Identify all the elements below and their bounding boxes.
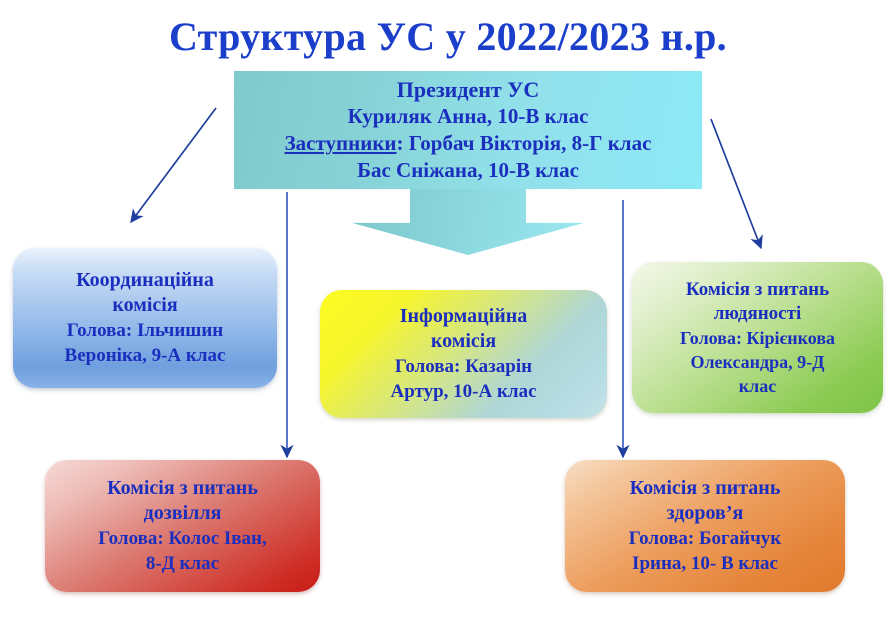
arrow-down-block-icon <box>352 188 584 255</box>
leisure-head-line1: Голова: Колос Іван, <box>55 526 310 551</box>
humanity-head-line1: Голова: Кірієнкова <box>640 326 875 350</box>
page-title: Структура УС у 2022/2023 н.р. <box>0 14 896 60</box>
health-name-line1: Комісія з питань <box>575 476 835 501</box>
deputies-separator: : <box>397 131 409 155</box>
leisure-name-line1: Комісія з питань <box>55 476 310 501</box>
node-leisure-commission[interactable]: Комісія з питань дозвілля Голова: Колос … <box>45 460 320 592</box>
coordination-head-line2: Вероніка, 9-А клас <box>23 343 267 368</box>
president-role: Президент УС <box>234 76 702 103</box>
information-name-line1: Інформаційна <box>330 304 597 329</box>
humanity-name-line2: людяності <box>640 302 875 326</box>
diagram-canvas: Структура УС у 2022/2023 н.р. Президент … <box>0 0 896 629</box>
node-coordination-commission[interactable]: Координаційна комісія Голова: Ільчишин В… <box>13 248 277 388</box>
president-name: Куриляк Анна, 10-В клас <box>234 103 702 130</box>
coordination-name-line2: комісія <box>23 293 267 318</box>
node-information-commission[interactable]: Інформаційна комісія Голова: Казарін Арт… <box>320 290 607 418</box>
information-head-line1: Голова: Казарін <box>330 354 597 379</box>
president-deputies-line: Заступники: Горбач Вікторія, 8-Г клас <box>234 130 702 157</box>
information-name-line2: комісія <box>330 329 597 354</box>
node-health-commission[interactable]: Комісія з питань здоров’я Голова: Богайч… <box>565 460 845 592</box>
node-humanity-commission[interactable]: Комісія з питань людяності Голова: Кіріє… <box>632 262 883 413</box>
deputy-2: Бас Сніжана, 10-В клас <box>234 157 702 184</box>
leisure-head-line2: 8-Д клас <box>55 551 310 576</box>
leisure-name-line2: дозвілля <box>55 501 310 526</box>
node-president[interactable]: Президент УС Куриляк Анна, 10-В клас Зас… <box>234 71 702 189</box>
deputy-1: Горбач Вікторія, 8-Г клас <box>409 131 652 155</box>
health-head-line2: Ірина, 10- В клас <box>575 551 835 576</box>
deputies-label: Заступники <box>285 131 397 155</box>
health-name-line2: здоров’я <box>575 501 835 526</box>
health-head-line1: Голова: Богайчук <box>575 526 835 551</box>
coordination-name-line1: Координаційна <box>23 268 267 293</box>
humanity-head-line2: Олександра, 9-Д <box>640 350 875 374</box>
information-head-line2: Артур, 10-А клас <box>330 379 597 404</box>
humanity-head-line3: клас <box>640 374 875 398</box>
arrow-president-to-coordination-icon <box>131 108 216 222</box>
coordination-head-line1: Голова: Ільчишин <box>23 318 267 343</box>
humanity-name-line1: Комісія з питань <box>640 278 875 302</box>
arrow-president-to-humanity-icon <box>711 119 761 248</box>
